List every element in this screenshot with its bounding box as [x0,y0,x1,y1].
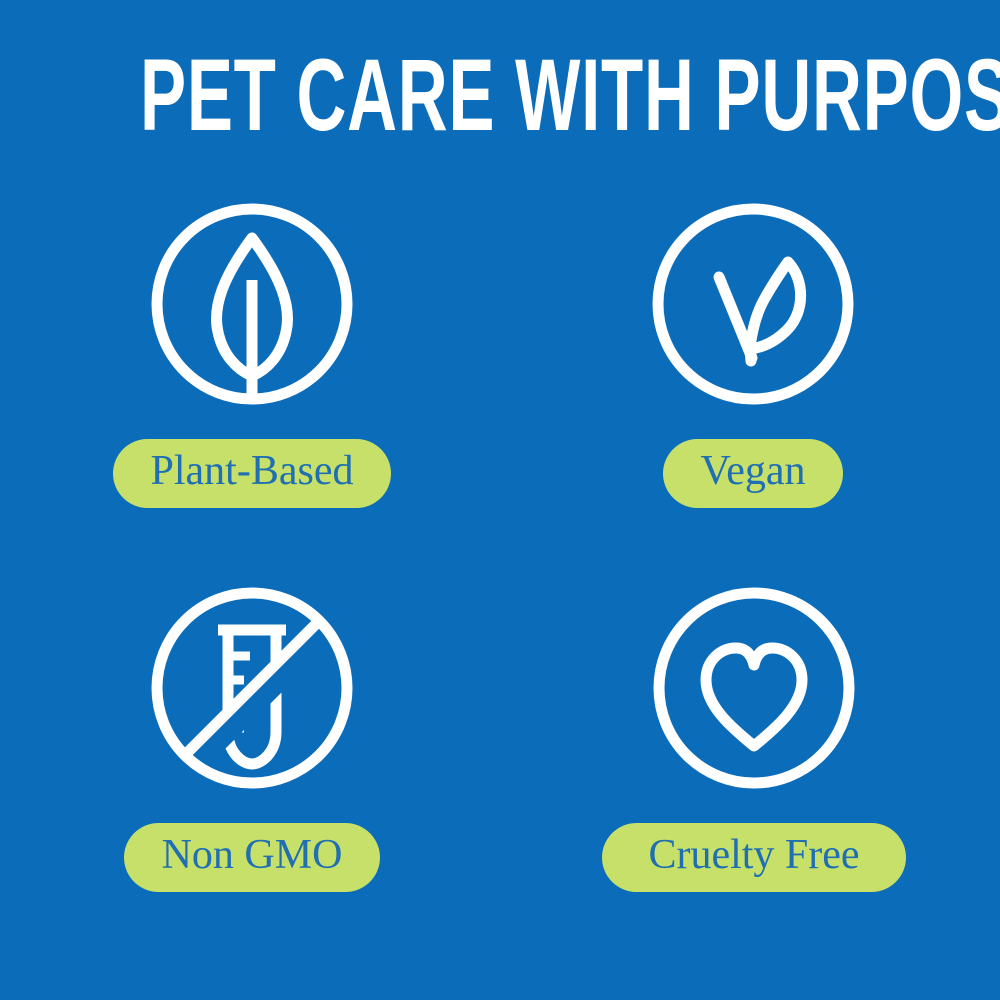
badge-non-gmo[interactable]: Non GMO [0,582,500,892]
badge-vegan[interactable]: Vegan [500,198,1000,508]
badge-label-non-gmo: Non GMO [124,823,381,892]
badge-label-plant-based: Plant-Based [113,439,392,508]
poster-canvas: PET CARE WITH PURPOSE Plant-Based [0,0,1000,1000]
badge-grid: Plant-Based Vegan [0,198,1000,892]
heart-icon [648,582,860,794]
badge-label-cruelty-free: Cruelty Free [602,823,905,892]
vegan-v-leaf-icon [647,198,859,410]
badge-plant-based[interactable]: Plant-Based [0,198,500,508]
no-test-tube-icon [146,582,358,794]
badge-cruelty-free[interactable]: Cruelty Free [500,582,1000,892]
leaf-upright-icon [146,198,358,410]
page-title: PET CARE WITH PURPOSE [140,44,860,148]
badge-label-vegan: Vegan [663,439,844,508]
